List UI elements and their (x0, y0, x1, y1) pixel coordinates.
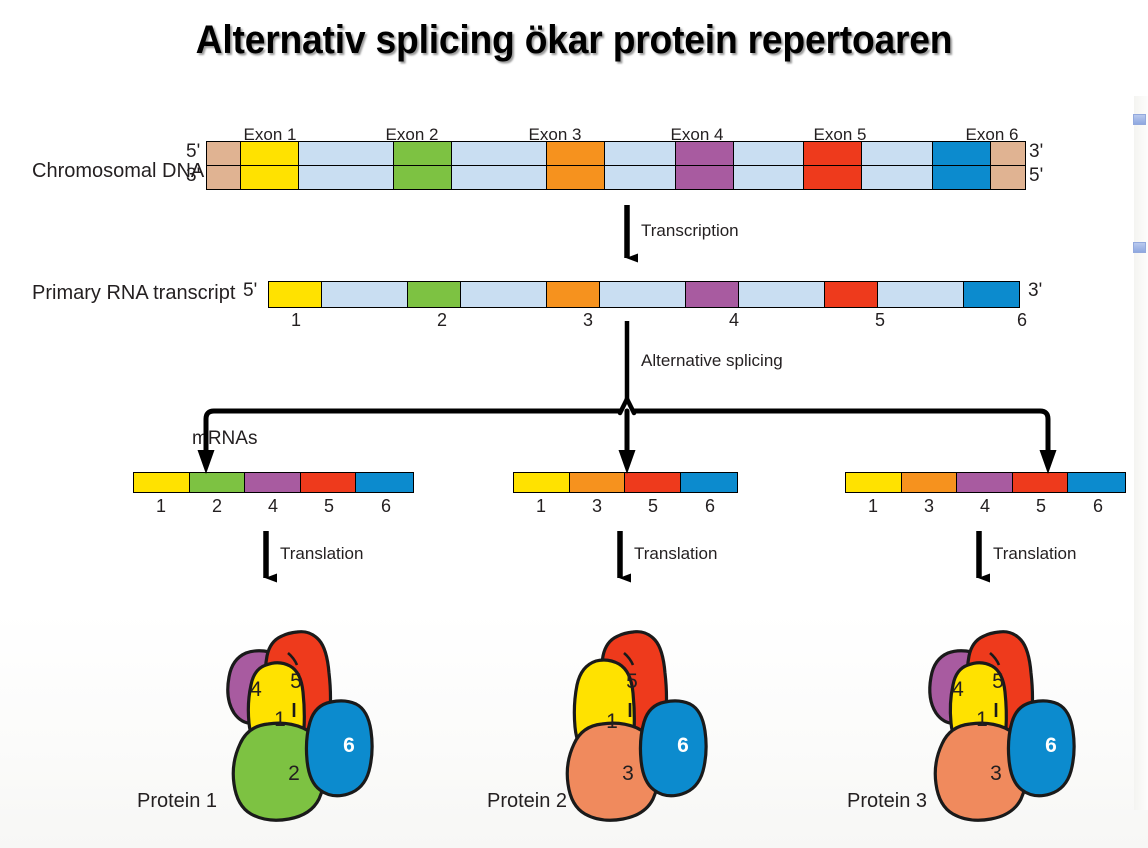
mrna-2-exon-3 (570, 473, 626, 492)
rna-exon-1 (269, 282, 322, 307)
protein-3-num-6: 6 (1045, 734, 1057, 757)
mrna-3-exon-3 (902, 473, 958, 492)
protein-1-complex (228, 632, 372, 821)
mrna-2-number-3: 3 (592, 496, 602, 517)
mrna-3-bar (845, 472, 1126, 493)
alternative-splicing-label: Alternative splicing (641, 351, 783, 371)
dna-strand-bottom (206, 165, 1026, 190)
dna-exon-2 (394, 142, 452, 165)
translation-label-1: Translation (280, 544, 363, 564)
rna-exon-2 (408, 282, 461, 307)
mrna-1-bar (133, 472, 414, 493)
dna-intron-5 (862, 142, 933, 165)
rna-exon-6 (964, 282, 1019, 307)
splicing-bracket (206, 411, 1048, 456)
dna-exon-3 (547, 142, 605, 165)
mrna-1-number-5: 5 (324, 496, 334, 517)
rna-exon-5 (825, 282, 878, 307)
protein-1-num-4: 4 (250, 678, 262, 701)
protein-3-subunit-3 (935, 723, 1026, 820)
mrna-1-exon-2 (190, 473, 246, 492)
mrna-3-exon-1 (846, 473, 902, 492)
dna-utr-right-2 (991, 166, 1025, 189)
rna-number-4: 4 (729, 310, 739, 331)
page-title: Alternativ splicing ökar protein reperto… (40, 18, 1108, 63)
protein-1-num-2: 2 (288, 762, 300, 785)
mrna-3-exon-6 (1068, 473, 1125, 492)
mrna-3-number-1: 1 (868, 496, 878, 517)
protein-1-subunit-6 (306, 701, 372, 796)
rna-number-3: 3 (583, 310, 593, 331)
dna-exon-6-2 (933, 166, 991, 189)
dna-exon-5-2 (804, 166, 862, 189)
dna-exon-4 (676, 142, 734, 165)
mrna-3-exon-4 (957, 473, 1013, 492)
rna-number-6: 6 (1017, 310, 1027, 331)
dna-intron-2 (452, 142, 547, 165)
protein-2-subunit-3 (567, 723, 658, 820)
dna-strand-top (206, 141, 1026, 166)
dna-utr-left (207, 142, 241, 165)
mrnas-label: mRNAs (192, 428, 257, 450)
alternative-splicing-figure: Chromosomal DNA 5' 3' 3' 5' Exon 1 Exon … (0, 108, 1148, 828)
dna-left-3prime-tick: 3' (186, 165, 200, 187)
mrna-1-exon-6 (356, 473, 413, 492)
mrna-2-number-1: 1 (536, 496, 546, 517)
protein-2-num-5: 5 (626, 670, 638, 693)
protein-3-numbers: 4 5 1 3 6 (952, 670, 1057, 785)
rna-right-3prime-tick: 3' (1028, 280, 1042, 302)
mrna-2-exon-1 (514, 473, 570, 492)
dna-right-5prime-tick: 5' (1029, 165, 1043, 187)
mrna-3-number-3: 3 (924, 496, 934, 517)
dna-intron-1 (299, 142, 394, 165)
rna-intron-2 (461, 282, 547, 307)
rna-number-5: 5 (875, 310, 885, 331)
protein-2-label: Protein 2 (487, 790, 567, 813)
primary-rna-transcript-label: Primary RNA transcript (32, 282, 235, 305)
protein-2-subunit-5 (601, 632, 667, 751)
protein-3-num-1: 1 (976, 708, 988, 731)
protein-1-num-6: 6 (343, 734, 355, 757)
dna-exon-5 (804, 142, 862, 165)
transcription-label: Transcription (641, 221, 739, 241)
arrow-overlay: 4 5 1 2 6 5 1 3 6 (0, 108, 1148, 828)
protein-3-subunit-1 (950, 663, 1006, 753)
protein-3-label: Protein 3 (847, 790, 927, 813)
mrna-1-number-4: 4 (268, 496, 278, 517)
protein-1-label: Protein 1 (137, 790, 217, 813)
protein-3-num-5: 5 (992, 670, 1004, 693)
dna-exon-4-2 (676, 166, 734, 189)
rna-intron-3 (600, 282, 686, 307)
protein-1-subunit-5 (265, 632, 331, 751)
dna-intron-4 (734, 142, 805, 165)
protein-3-subunit-4 (930, 651, 977, 724)
alternative-splicing-arrow (620, 321, 634, 413)
dna-exon-6 (933, 142, 991, 165)
mrna-3-exon-5 (1013, 473, 1069, 492)
mrna-2-number-5: 5 (648, 496, 658, 517)
protein-2-complex (567, 632, 706, 821)
mrna-2-exon-6 (681, 473, 737, 492)
dna-exon-3-2 (547, 166, 605, 189)
rna-intron-1 (322, 282, 408, 307)
mrna-1-exon-5 (301, 473, 357, 492)
dna-intron-2-2 (452, 166, 547, 189)
protein-2-subunit-6 (640, 701, 706, 796)
dna-intron-4-2 (734, 166, 805, 189)
panel-chip-top[interactable] (1133, 114, 1146, 125)
mrna-1-number-6: 6 (381, 496, 391, 517)
mrna-2-bar (513, 472, 738, 493)
translation-label-2: Translation (634, 544, 717, 564)
chromosomal-dna-label: Chromosomal DNA (32, 160, 204, 183)
rna-intron-5 (878, 282, 964, 307)
dna-left-5prime-tick: 5' (186, 141, 200, 163)
mrna-1-exon-1 (134, 473, 190, 492)
rna-left-5prime-tick: 5' (243, 280, 257, 302)
mrna-3-number-6: 6 (1093, 496, 1103, 517)
protein-3-subunit-6 (1008, 701, 1074, 796)
dna-intron-3 (605, 142, 676, 165)
dna-right-3prime-tick: 3' (1029, 141, 1043, 163)
mrna-2-exon-5 (625, 473, 681, 492)
protein-1-subunit-1 (248, 663, 304, 753)
right-edge-panel (1134, 96, 1148, 810)
protein-3-num-4: 4 (952, 678, 964, 701)
dna-exon-2-2 (394, 166, 452, 189)
protein-1-subunit-4 (228, 651, 275, 724)
protein-1-subunit-2 (233, 723, 324, 820)
mrna-2-number-6: 6 (705, 496, 715, 517)
protein-3-complex (930, 632, 1074, 821)
rna-exon-4 (686, 282, 739, 307)
dna-intron-5-2 (862, 166, 933, 189)
protein-2-num-6: 6 (677, 734, 689, 757)
panel-chip-bottom[interactable] (1133, 242, 1146, 253)
mrna-1-number-1: 1 (156, 496, 166, 517)
rna-number-1: 1 (291, 310, 301, 331)
dna-intron-1-2 (299, 166, 394, 189)
mrna-3-number-4: 4 (980, 496, 990, 517)
mrna-branch-arrowheads (198, 450, 1057, 474)
rna-intron-4 (739, 282, 825, 307)
mrna-1-number-2: 2 (212, 496, 222, 517)
protein-3-num-3: 3 (990, 762, 1002, 785)
protein-2-subunit-1 (574, 660, 634, 759)
translation-label-3: Translation (993, 544, 1076, 564)
protein-2-num-3: 3 (622, 762, 634, 785)
protein-1-numbers: 4 5 1 2 6 (250, 670, 355, 785)
mrna-1-exon-4 (245, 473, 301, 492)
dna-exon-1 (241, 142, 299, 165)
rna-exon-3 (547, 282, 600, 307)
rna-number-2: 2 (437, 310, 447, 331)
mrna-3-number-5: 5 (1036, 496, 1046, 517)
protein-1-num-1: 1 (274, 708, 286, 731)
primary-rna-transcript-bar (268, 281, 1020, 308)
dna-exon-1-2 (241, 166, 299, 189)
dna-intron-3-2 (605, 166, 676, 189)
dna-utr-left-2 (207, 166, 241, 189)
protein-2-num-1: 1 (606, 710, 618, 733)
dna-utr-right (991, 142, 1025, 165)
protein-3-subunit-5 (967, 632, 1033, 751)
protein-2-numbers: 5 1 3 6 (606, 670, 689, 785)
protein-1-num-5: 5 (290, 670, 302, 693)
